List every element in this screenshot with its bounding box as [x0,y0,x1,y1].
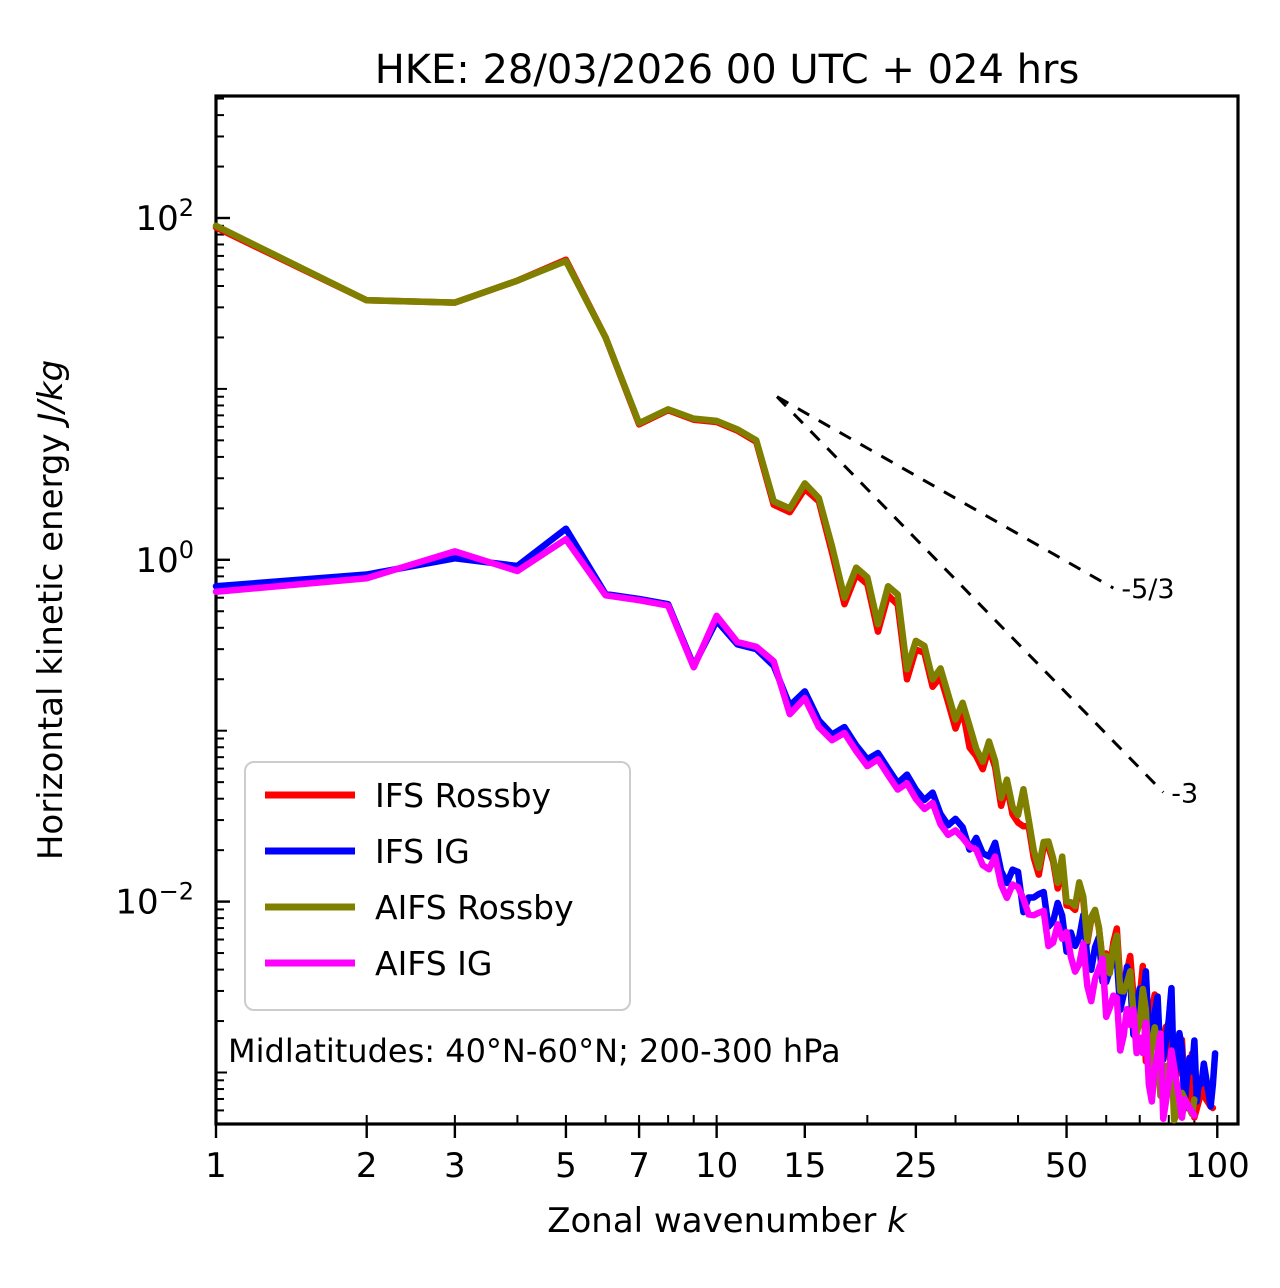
x-tick-label: 3 [444,1146,466,1186]
chart-page: HKE: 28/03/2026 00 UTC + 024 hrs 1235710… [0,0,1280,1288]
x-tick-label: 2 [356,1146,378,1186]
x-tick-label: 50 [1045,1146,1088,1186]
legend-label-ifs-ig: IFS IG [375,832,470,871]
legend-label-ifs-rossby: IFS Rossby [375,776,551,815]
region-annotation: Midlatitudes: 40°N-60°N; 200-300 hPa [228,1032,841,1070]
x-tick-label: 7 [628,1146,650,1186]
x-tick-label: 25 [894,1146,937,1186]
x-tick-label: 5 [555,1146,577,1186]
x-tick-label: 15 [783,1146,826,1186]
legend-label-aifs-ig: AIFS IG [375,944,492,983]
y-axis-label: Horizontal kinetic energy J/kg [31,360,71,860]
page-title: HKE: 28/03/2026 00 UTC + 024 hrs [375,47,1080,93]
legend[interactable]: IFS RossbyIFS IGAIFS RossbyAIFS IG [245,762,630,1010]
x-tick-label: 100 [1185,1146,1250,1186]
reference-line-label: -3 [1171,778,1198,809]
x-tick-label: 10 [695,1146,738,1186]
legend-label-aifs-rossby: AIFS Rossby [375,888,574,927]
reference-line-label: -5/3 [1121,574,1174,605]
x-axis-label: Zonal wavenumber k [547,1201,908,1241]
x-tick-label: 1 [205,1146,227,1186]
hke-spectrum-chart: HKE: 28/03/2026 00 UTC + 024 hrs 1235710… [0,0,1280,1288]
